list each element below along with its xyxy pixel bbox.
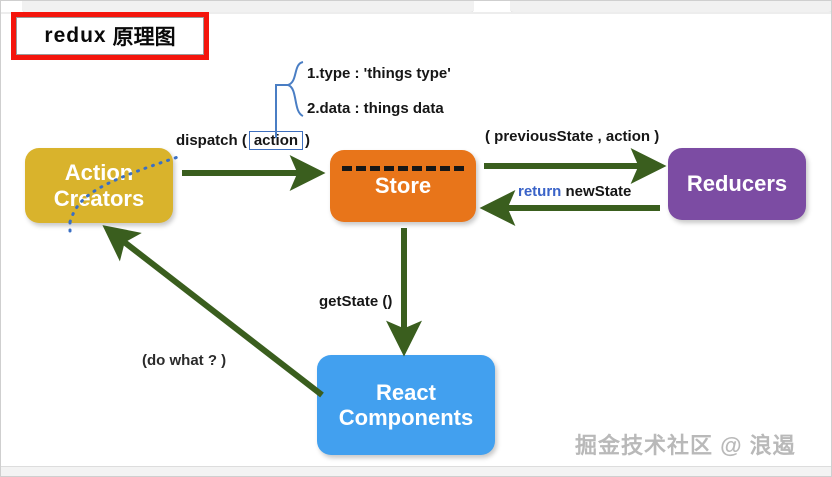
dispatch-prefix: dispatch ( [176,132,247,149]
do-what-label: (do what ? ) [142,352,226,369]
node-react-components[interactable]: React Components [317,355,495,455]
title-brand: redux [44,24,106,48]
title-plate: redux 原理图 [11,12,209,60]
dispatch-label: dispatch (action) [176,131,310,150]
bottom-band [0,466,832,477]
node-reducers-label: Reducers [687,171,787,196]
action-payload-brace [276,62,303,138]
arrow-do-what [110,231,322,395]
action-detail-type: 1.type : 'things type' [307,65,451,82]
title-plate-inner: redux 原理图 [16,17,204,55]
title-subtitle: 原理图 [113,21,176,51]
node-action-creators-line1: Action [65,160,133,185]
get-state-label: getState () [319,293,392,310]
node-action-creators[interactable]: Action Creators [25,148,173,223]
watermark: 掘金技术社区 @ 浪遏 [575,428,796,460]
node-action-creators-line2: Creators [54,186,144,211]
return-newstate-label: return newState [518,183,631,200]
action-token-box: action [249,131,303,150]
node-react-components-line1: React [376,380,436,405]
store-dashed-stripe [342,166,464,171]
return-keyword: return [518,183,561,200]
node-react-components-line2: Components [339,405,473,430]
node-store-label: Store [375,173,431,198]
action-detail-data: 2.data : things data [307,100,444,117]
previous-state-label: ( previousState , action ) [485,128,659,145]
redux-diagram-canvas: redux 原理图 1.type : 'things type' 2.data … [0,0,832,477]
dispatch-suffix: ) [305,132,310,149]
node-reducers[interactable]: Reducers [668,148,806,220]
node-store[interactable]: Store [330,150,476,222]
return-value: newState [566,183,632,200]
